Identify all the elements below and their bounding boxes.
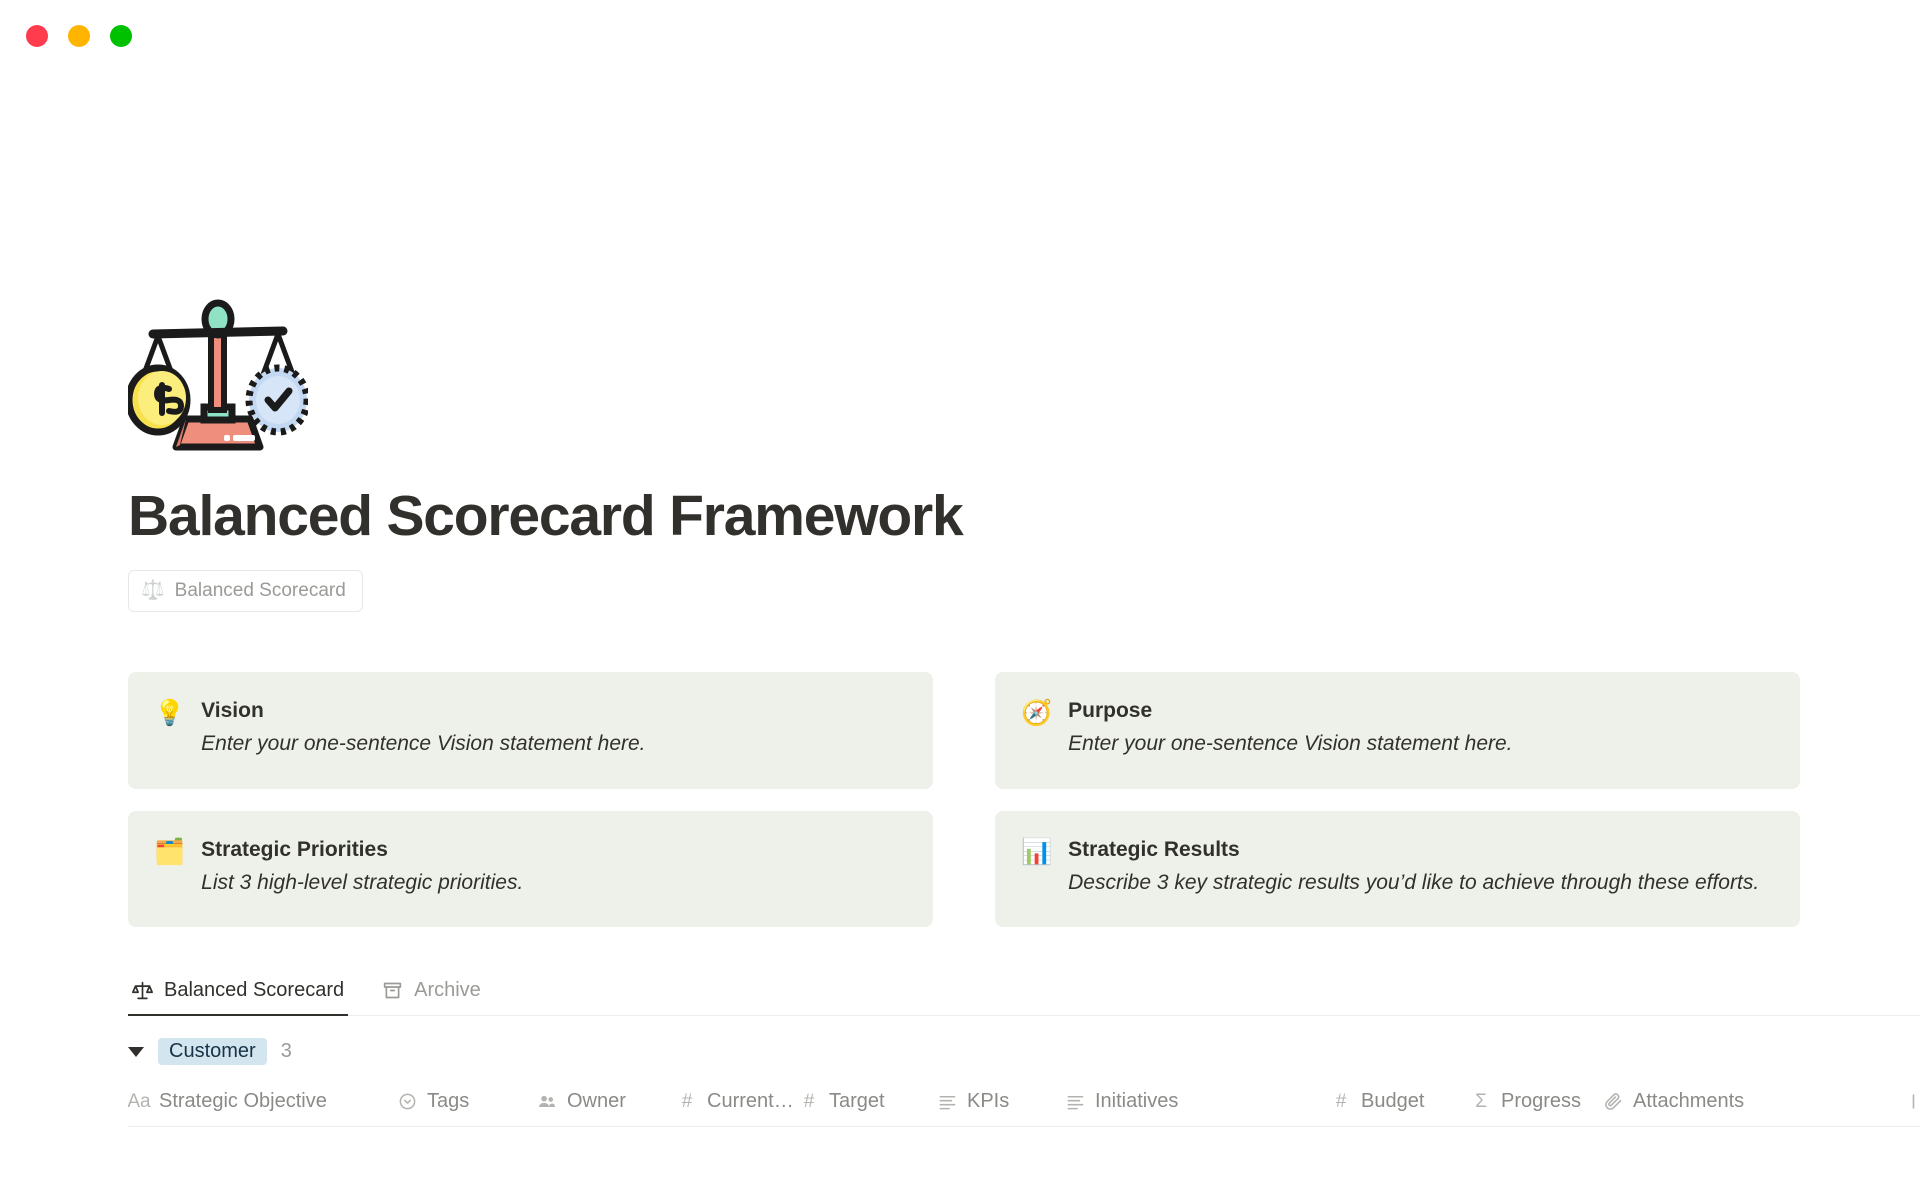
select-circle-icon xyxy=(396,1092,418,1111)
minimize-window-button[interactable] xyxy=(68,25,90,47)
compass-icon: 🧭 xyxy=(1021,698,1052,729)
breadcrumb[interactable]: ⚖️ Balanced Scorecard xyxy=(128,570,363,612)
column-label: Tags xyxy=(427,1090,469,1113)
text-lines-icon xyxy=(1064,1092,1086,1111)
table-column-headers: Aa Strategic Objective Tags xyxy=(128,1077,1920,1127)
column-label: KPIs xyxy=(967,1090,1009,1113)
callout-cards: 💡 Vision Enter your one-sentence Vision … xyxy=(128,672,1800,928)
column-header-strategic-objective[interactable]: Aa Strategic Objective xyxy=(128,1090,396,1113)
callout-title: Strategic Priorities xyxy=(201,838,523,862)
maximize-window-button[interactable] xyxy=(110,25,132,47)
callout-text[interactable]: List 3 high-level strategic priorities. xyxy=(201,868,523,898)
tab-archive[interactable]: Archive xyxy=(378,973,485,1016)
collapse-group-toggle[interactable] xyxy=(128,1047,144,1057)
callout-card-vision[interactable]: 💡 Vision Enter your one-sentence Vision … xyxy=(128,672,933,789)
page-content: Balanced Scorecard Framework ⚖️ Balanced… xyxy=(0,72,1920,1127)
column-header-tags[interactable]: Tags xyxy=(396,1090,536,1113)
column-header-budget[interactable]: # Budget xyxy=(1330,1090,1470,1113)
tab-label: Balanced Scorecard xyxy=(164,979,344,1002)
paperclip-icon xyxy=(1602,1092,1624,1111)
group-tag[interactable]: Customer xyxy=(158,1038,267,1065)
database-tabs: Balanced Scorecard Archive xyxy=(128,973,1920,1016)
traffic-light-controls xyxy=(26,25,132,47)
callout-title: Purpose xyxy=(1068,699,1512,723)
column-label: Current… xyxy=(707,1090,794,1113)
close-window-button[interactable] xyxy=(26,25,48,47)
priorities-chart-icon: 🗂️ xyxy=(154,837,185,868)
number-hash-icon: # xyxy=(1330,1092,1352,1111)
archive-box-icon xyxy=(382,980,403,1001)
page-icon-balance-scale[interactable] xyxy=(128,287,308,467)
number-hash-icon: # xyxy=(676,1092,698,1111)
group-header-customer: Customer 3 xyxy=(128,1016,1860,1077)
column-label: Budget xyxy=(1361,1090,1424,1113)
sigma-rollup-icon: Σ xyxy=(1470,1092,1492,1111)
column-label: Initiatives xyxy=(1095,1090,1178,1113)
database-view: Balanced Scorecard Archive Customer 3 xyxy=(128,973,1860,1127)
column-label: Strategic Objective xyxy=(159,1090,327,1113)
column-header-attachments[interactable]: Attachments xyxy=(1602,1090,1902,1113)
cover-spacer xyxy=(128,72,1860,287)
column-header-initiatives[interactable]: Initiatives xyxy=(1064,1090,1330,1113)
callout-title: Vision xyxy=(201,699,645,723)
page-title[interactable]: Balanced Scorecard Framework xyxy=(128,485,1860,548)
bar-chart-icon: 📊 xyxy=(1021,837,1052,868)
callout-body: Strategic Priorities List 3 high-level s… xyxy=(201,837,523,898)
column-label: Attachments xyxy=(1633,1090,1744,1113)
number-hash-icon: # xyxy=(798,1092,820,1111)
column-header-kpis[interactable]: KPIs xyxy=(936,1090,1064,1113)
callout-text[interactable]: Enter your one-sentence Vision statement… xyxy=(1068,729,1512,759)
column-label: Target xyxy=(829,1090,885,1113)
column-label: Owner xyxy=(567,1090,626,1113)
callout-body: Strategic Results Describe 3 key strateg… xyxy=(1068,837,1759,898)
text-lines-icon xyxy=(936,1092,958,1111)
window-titlebar xyxy=(0,0,1920,72)
tab-balanced-scorecard[interactable]: Balanced Scorecard xyxy=(128,973,348,1016)
callout-body: Purpose Enter your one-sentence Vision s… xyxy=(1068,698,1512,759)
callout-text[interactable]: Describe 3 key strategic results you’d l… xyxy=(1068,868,1759,898)
column-header-owner[interactable]: Owner xyxy=(536,1090,676,1113)
callout-card-purpose[interactable]: 🧭 Purpose Enter your one-sentence Vision… xyxy=(995,672,1800,789)
balance-scale-icon: ⚖️ xyxy=(141,581,165,600)
column-header-current[interactable]: # Current… xyxy=(676,1090,798,1113)
group-count: 3 xyxy=(281,1040,292,1063)
more-column-icon xyxy=(1902,1092,1920,1111)
tab-label: Archive xyxy=(414,979,481,1002)
lightbulb-icon: 💡 xyxy=(154,698,185,729)
column-header-progress[interactable]: Σ Progress xyxy=(1470,1090,1602,1113)
callout-text[interactable]: Enter your one-sentence Vision statement… xyxy=(201,729,645,759)
callout-card-strategic-priorities[interactable]: 🗂️ Strategic Priorities List 3 high-leve… xyxy=(128,811,933,928)
title-aa-icon: Aa xyxy=(128,1092,150,1111)
callout-body: Vision Enter your one-sentence Vision st… xyxy=(201,698,645,759)
people-icon xyxy=(536,1092,558,1112)
callout-title: Strategic Results xyxy=(1068,838,1759,862)
column-header-overflow[interactable] xyxy=(1902,1092,1920,1111)
column-header-target[interactable]: # Target xyxy=(798,1090,936,1113)
column-label: Progress xyxy=(1501,1090,1581,1113)
breadcrumb-label: Balanced Scorecard xyxy=(175,580,346,602)
callout-card-strategic-results[interactable]: 📊 Strategic Results Describe 3 key strat… xyxy=(995,811,1800,928)
balance-scale-icon xyxy=(132,980,153,1001)
